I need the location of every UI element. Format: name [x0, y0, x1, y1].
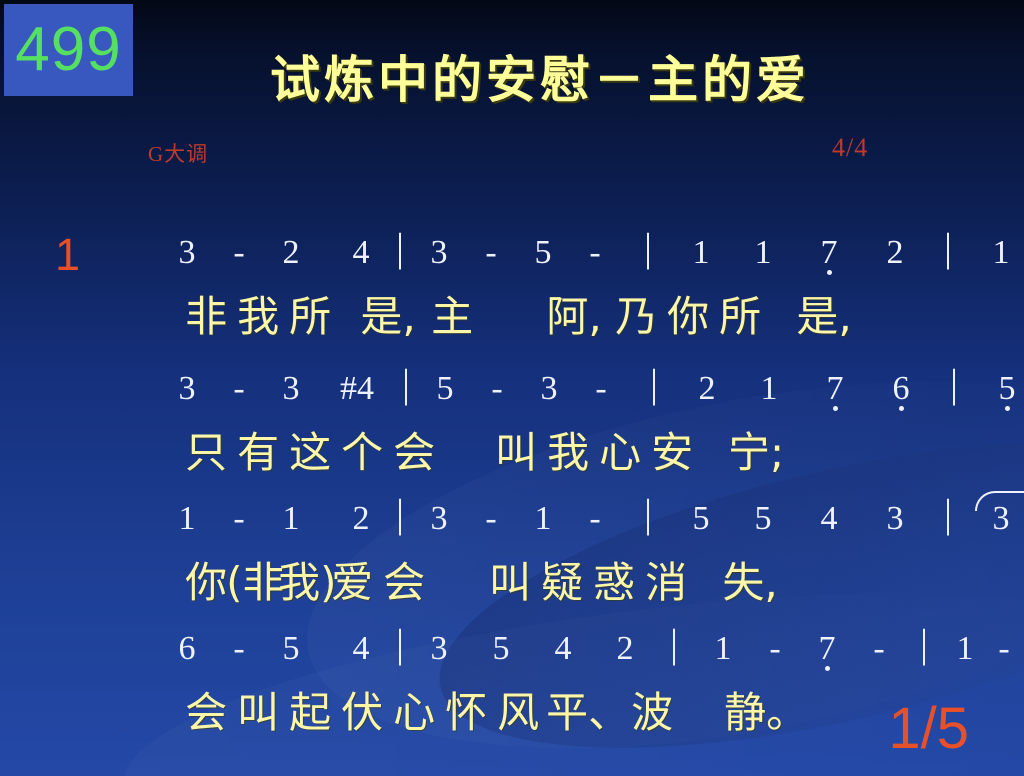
page-indicator: 1/5: [888, 700, 969, 758]
music-system-1: 3-24|3-5-|1172|1---| 非我所是,主阿,乃你所是,: [0, 172, 1024, 286]
music-system-4: 6-54|3542|1-7-|1---‖ 会叫起伏心怀风平、波静。: [0, 568, 1024, 682]
lyrics-row-1: 非我所是,主阿,乃你所是,: [0, 224, 1024, 286]
lyric-char: 怀: [440, 682, 492, 744]
lyrics-row-4: 会叫起伏心怀风平、波静。: [0, 620, 1024, 682]
music-system-2: 3-3#4|5-3-|2176|5---| 只有这个会叫我心安宁;: [0, 308, 1024, 422]
lyric-char: 静。: [714, 682, 818, 744]
lyrics-row-2: 只有这个会叫我心安宁;: [0, 360, 1024, 422]
lyric-char: 会: [180, 682, 232, 744]
hymn-slide: 499 试炼中的安慰－主的爱 G大调 4/4 1 3-24|3-5-|1172|…: [0, 0, 1024, 776]
notation-row-4: 6-54|3542|1-7-|1---‖: [0, 568, 1024, 620]
page-title: 试炼中的安慰－主的爱: [160, 52, 920, 108]
lyric-char: 起: [284, 682, 336, 744]
lyrics-row-3: 你(非我)爱会叫疑惑消失,: [0, 490, 1024, 552]
lyric-char: 波: [626, 682, 678, 744]
music-system-3: 1-12|3-1-|5543|3-2-| 你(非我)爱会叫疑惑消失,: [0, 438, 1024, 552]
notation-row-3: 1-12|3-1-|5543|3-2-|: [0, 438, 1024, 490]
hymn-number: 499: [15, 19, 121, 81]
lyric-char: 平、: [536, 682, 640, 744]
hymn-number-badge: 499: [4, 4, 133, 96]
lyric-char: 伏: [336, 682, 388, 744]
time-signature: 4/4: [832, 133, 868, 163]
lyric-char: 叫: [232, 682, 284, 744]
notation-row-1: 3-24|3-5-|1172|1---|: [0, 172, 1024, 224]
lyric-char: 心: [388, 682, 440, 744]
key-signature: G大调: [148, 138, 208, 168]
notation-row-2: 3-3#4|5-3-|2176|5---|: [0, 308, 1024, 360]
